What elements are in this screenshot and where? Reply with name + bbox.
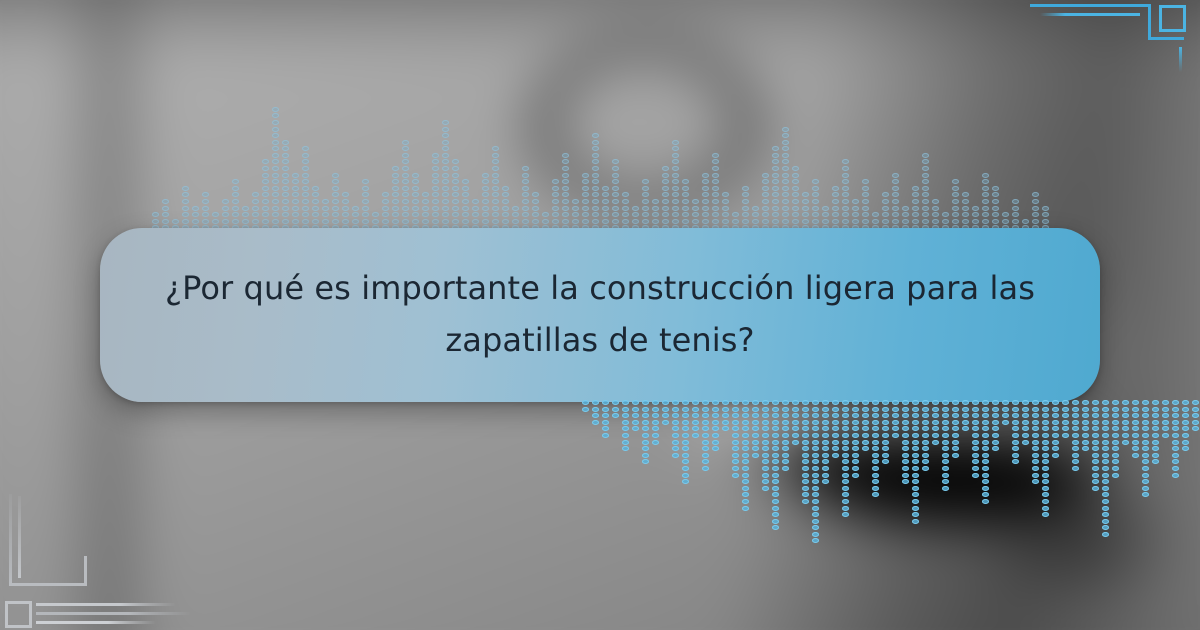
circuit-elbow-horizontal xyxy=(1148,37,1184,40)
waveform-dot xyxy=(1052,440,1059,445)
waveform-dot xyxy=(992,426,999,431)
waveform-dot xyxy=(452,192,459,197)
waveform-dot xyxy=(1132,440,1139,445)
waveform-dot xyxy=(902,466,909,471)
waveform-dot xyxy=(1192,413,1199,418)
waveform-dot xyxy=(912,413,919,418)
waveform-dot xyxy=(922,420,929,425)
waveform-dot xyxy=(682,186,689,191)
waveform-dot xyxy=(522,206,529,211)
waveform-dot xyxy=(392,166,399,171)
waveform-dot xyxy=(332,206,339,211)
waveform-dot xyxy=(672,206,679,211)
waveform-dot xyxy=(972,446,979,451)
waveform-dot xyxy=(752,206,759,211)
waveform-dot xyxy=(932,433,939,438)
waveform-dot xyxy=(412,212,419,217)
waveform-dot xyxy=(1152,453,1159,458)
waveform-dot xyxy=(1052,413,1059,418)
waveform-dot xyxy=(1102,525,1109,530)
waveform-dot xyxy=(392,219,399,224)
waveform-dot xyxy=(942,212,949,217)
waveform-column xyxy=(980,173,990,232)
waveform-dot xyxy=(872,407,879,412)
waveform-dot xyxy=(1072,420,1079,425)
waveform-dot xyxy=(952,440,959,445)
waveform-dot xyxy=(1092,453,1099,458)
waveform-dot xyxy=(1022,400,1029,405)
waveform-dot xyxy=(992,186,999,191)
waveform-dot xyxy=(1142,426,1149,431)
waveform-column xyxy=(280,140,290,232)
waveform-dot xyxy=(682,179,689,184)
waveform-dot xyxy=(592,159,599,164)
waveform-column xyxy=(630,400,640,433)
waveform-dot xyxy=(492,146,499,151)
waveform-dot xyxy=(702,433,709,438)
waveform-dot xyxy=(912,446,919,451)
waveform-dot xyxy=(862,407,869,412)
waveform-dot xyxy=(1102,473,1109,478)
waveform-dot xyxy=(232,212,239,217)
waveform-dot xyxy=(1142,440,1149,445)
waveform-dot xyxy=(672,453,679,458)
waveform-dot xyxy=(432,166,439,171)
waveform-dot xyxy=(1102,407,1109,412)
waveform-dot xyxy=(862,186,869,191)
waveform-dot xyxy=(492,173,499,178)
waveform-column xyxy=(1000,400,1010,426)
waveform-dot xyxy=(812,538,819,543)
waveform-dot xyxy=(782,453,789,458)
waveform-dot xyxy=(592,219,599,224)
waveform-dot xyxy=(712,206,719,211)
waveform-dot xyxy=(812,532,819,537)
waveform-dot xyxy=(822,413,829,418)
waveform-dot xyxy=(802,492,809,497)
waveform-dot xyxy=(1082,400,1089,405)
waveform-dot xyxy=(282,186,289,191)
waveform-dot xyxy=(842,479,849,484)
waveform-dot xyxy=(152,212,159,217)
waveform-dot xyxy=(1092,479,1099,484)
waveform-dot xyxy=(772,219,779,224)
waveform-column xyxy=(560,153,570,232)
waveform-dot xyxy=(1172,400,1179,405)
waveform-dot xyxy=(912,407,919,412)
waveform-dot xyxy=(972,440,979,445)
waveform-dot xyxy=(892,192,899,197)
waveform-dot xyxy=(832,219,839,224)
waveform-dot xyxy=(782,420,789,425)
waveform-dot xyxy=(712,420,719,425)
waveform-dot xyxy=(712,400,719,405)
waveform-dot xyxy=(942,426,949,431)
waveform-dot xyxy=(272,120,279,125)
waveform-dot xyxy=(552,192,559,197)
waveform-dot xyxy=(262,159,269,164)
waveform-dot xyxy=(302,166,309,171)
waveform-dot xyxy=(712,179,719,184)
waveform-column xyxy=(870,400,880,499)
waveform-dot xyxy=(732,459,739,464)
waveform-dot xyxy=(1072,426,1079,431)
waveform-dot xyxy=(622,440,629,445)
waveform-dot xyxy=(712,199,719,204)
waveform-dot xyxy=(842,413,849,418)
waveform-dot xyxy=(1042,440,1049,445)
waveform-dot xyxy=(812,420,819,425)
waveform-dot xyxy=(1012,426,1019,431)
waveform-dot xyxy=(722,420,729,425)
waveform-dot xyxy=(262,166,269,171)
waveform-dot xyxy=(232,199,239,204)
waveform-dot xyxy=(972,212,979,217)
waveform-dot xyxy=(982,199,989,204)
waveform-dot xyxy=(1142,400,1149,405)
waveform-dot xyxy=(952,400,959,405)
waveform-dot xyxy=(882,192,889,197)
waveform-dot xyxy=(302,212,309,217)
waveform-dot xyxy=(912,473,919,478)
waveform-dot xyxy=(572,212,579,217)
waveform-dot xyxy=(842,512,849,517)
waveform-dot xyxy=(812,212,819,217)
waveform-dot xyxy=(812,453,819,458)
waveform-dot xyxy=(842,440,849,445)
waveform-dot xyxy=(382,192,389,197)
waveform-dot xyxy=(922,153,929,158)
waveform-dot xyxy=(712,186,719,191)
waveform-dot xyxy=(852,473,859,478)
waveform-dot xyxy=(222,206,229,211)
waveform-dot xyxy=(982,453,989,458)
waveform-dot xyxy=(812,512,819,517)
waveform-dot xyxy=(1052,407,1059,412)
waveform-dot xyxy=(1012,199,1019,204)
waveform-dot xyxy=(792,179,799,184)
waveform-dot xyxy=(702,420,709,425)
waveform-dot xyxy=(892,186,899,191)
waveform-dot xyxy=(1062,426,1069,431)
waveform-dot xyxy=(882,420,889,425)
waveform-dot xyxy=(362,206,369,211)
waveform-dot xyxy=(542,212,549,217)
waveform-dot xyxy=(562,212,569,217)
waveform-dot xyxy=(332,192,339,197)
circuit-square-icon-bl xyxy=(5,601,32,628)
waveform-dot xyxy=(192,219,199,224)
waveform-dot xyxy=(832,446,839,451)
waveform-dot xyxy=(852,400,859,405)
waveform-dot xyxy=(622,433,629,438)
waveform-dot xyxy=(272,107,279,112)
waveform-dot xyxy=(762,420,769,425)
waveform-dot xyxy=(802,400,809,405)
waveform-column xyxy=(1180,400,1190,453)
waveform-dot xyxy=(982,486,989,491)
waveform-dot xyxy=(952,420,959,425)
waveform-dot xyxy=(922,219,929,224)
waveform-dot xyxy=(942,433,949,438)
waveform-column xyxy=(670,140,680,232)
waveform-dot xyxy=(1022,413,1029,418)
waveform-column xyxy=(1010,400,1020,466)
waveform-dot xyxy=(772,413,779,418)
waveform-dot xyxy=(902,420,909,425)
waveform-dot xyxy=(672,407,679,412)
waveform-dot xyxy=(842,219,849,224)
circuit-line-bottom-3 xyxy=(36,621,156,624)
waveform-dot xyxy=(312,186,319,191)
waveform-dot xyxy=(982,499,989,504)
waveform-column xyxy=(590,133,600,232)
waveform-dot xyxy=(922,433,929,438)
waveform-column xyxy=(720,400,730,433)
waveform-dot xyxy=(942,219,949,224)
waveform-dot xyxy=(682,219,689,224)
waveform-dot xyxy=(612,413,619,418)
waveform-dot xyxy=(962,407,969,412)
waveform-dot xyxy=(1102,426,1109,431)
waveform-dot xyxy=(822,426,829,431)
waveform-dot xyxy=(462,212,469,217)
circuit-line-bottom-2 xyxy=(36,612,191,615)
waveform-dot xyxy=(732,413,739,418)
waveform-dot xyxy=(812,400,819,405)
waveform-dot xyxy=(572,206,579,211)
waveform-dot xyxy=(952,433,959,438)
waveform-dot xyxy=(422,192,429,197)
waveform-dot xyxy=(742,407,749,412)
waveform-column xyxy=(340,192,350,232)
waveform-dot xyxy=(322,206,329,211)
circuit-line-top-2 xyxy=(1040,13,1140,16)
waveform-dot xyxy=(872,492,879,497)
waveform-dot xyxy=(252,199,259,204)
waveform-dot xyxy=(842,407,849,412)
waveform-dot xyxy=(742,413,749,418)
waveform-dot xyxy=(912,492,919,497)
waveform-dot xyxy=(682,420,689,425)
waveform-dot xyxy=(812,426,819,431)
waveform-dot xyxy=(722,199,729,204)
waveform-dot xyxy=(452,166,459,171)
waveform-dot xyxy=(912,466,919,471)
waveform-dot xyxy=(382,212,389,217)
waveform-column xyxy=(460,179,470,232)
waveform-dot xyxy=(1172,453,1179,458)
waveform-dot xyxy=(672,446,679,451)
waveform-dot xyxy=(992,433,999,438)
waveform-dot xyxy=(1012,413,1019,418)
waveform-dot xyxy=(1172,413,1179,418)
waveform-column xyxy=(1040,400,1050,519)
waveform-dot xyxy=(1072,466,1079,471)
waveform-column xyxy=(770,146,780,232)
waveform-dot xyxy=(742,426,749,431)
waveform-column xyxy=(410,173,420,232)
waveform-dot xyxy=(442,186,449,191)
waveform-dot xyxy=(1172,407,1179,412)
waveform-dot xyxy=(702,173,709,178)
waveform-dot xyxy=(412,186,419,191)
waveform-column xyxy=(770,400,780,532)
waveform-dot xyxy=(382,199,389,204)
waveform-dot xyxy=(842,420,849,425)
waveform-dot xyxy=(782,140,789,145)
waveform-dot xyxy=(1152,413,1159,418)
waveform-dot xyxy=(602,413,609,418)
waveform-column xyxy=(860,400,870,453)
waveform-dot xyxy=(482,186,489,191)
waveform-dot xyxy=(762,466,769,471)
waveform-dot xyxy=(912,479,919,484)
waveform-dot xyxy=(902,219,909,224)
waveform-dot xyxy=(652,433,659,438)
waveform-dot xyxy=(862,199,869,204)
waveform-dot xyxy=(682,407,689,412)
waveform-dot xyxy=(162,199,169,204)
waveform-dot xyxy=(1092,433,1099,438)
waveform-dot xyxy=(1122,420,1129,425)
waveform-dot xyxy=(592,133,599,138)
waveform-dot xyxy=(1012,420,1019,425)
waveform-dot xyxy=(1012,206,1019,211)
waveform-dot xyxy=(492,192,499,197)
waveform-dot xyxy=(752,433,759,438)
waveform-dot xyxy=(842,433,849,438)
waveform-dot xyxy=(912,486,919,491)
waveform-dot xyxy=(892,219,899,224)
waveform-dot xyxy=(282,166,289,171)
waveform-dot xyxy=(1152,400,1159,405)
waveform-dot xyxy=(1052,420,1059,425)
waveform-dot xyxy=(342,212,349,217)
waveform-dot xyxy=(882,400,889,405)
waveform-dot xyxy=(772,426,779,431)
waveform-dot xyxy=(552,212,559,217)
waveform-dot xyxy=(892,206,899,211)
waveform-dot xyxy=(592,153,599,158)
audio-waveform-bottom xyxy=(580,400,1200,530)
waveform-dot xyxy=(1112,459,1119,464)
waveform-dot xyxy=(632,407,639,412)
waveform-dot xyxy=(912,420,919,425)
waveform-dot xyxy=(632,426,639,431)
waveform-dot xyxy=(372,212,379,217)
waveform-dot xyxy=(1122,407,1129,412)
waveform-dot xyxy=(782,159,789,164)
waveform-column xyxy=(620,400,630,453)
waveform-dot xyxy=(902,433,909,438)
waveform-dot xyxy=(762,433,769,438)
waveform-dot xyxy=(802,206,809,211)
waveform-dot xyxy=(622,199,629,204)
waveform-dot xyxy=(1092,466,1099,471)
waveform-dot xyxy=(702,459,709,464)
audio-waveform-top xyxy=(150,112,1050,232)
waveform-dot xyxy=(1102,420,1109,425)
waveform-dot xyxy=(662,413,669,418)
waveform-dot xyxy=(292,186,299,191)
waveform-dot xyxy=(692,199,699,204)
waveform-dot xyxy=(292,219,299,224)
waveform-dot xyxy=(812,192,819,197)
waveform-dot xyxy=(482,219,489,224)
waveform-dot xyxy=(822,407,829,412)
waveform-dot xyxy=(422,212,429,217)
waveform-column xyxy=(890,400,900,440)
waveform-column xyxy=(710,153,720,232)
waveform-dot xyxy=(1042,219,1049,224)
waveform-dot xyxy=(762,219,769,224)
waveform-dot xyxy=(842,473,849,478)
waveform-dot xyxy=(1052,453,1059,458)
waveform-dot xyxy=(842,212,849,217)
waveform-dot xyxy=(1042,426,1049,431)
waveform-dot xyxy=(602,199,609,204)
waveform-dot xyxy=(1022,440,1029,445)
waveform-dot xyxy=(492,212,499,217)
waveform-dot xyxy=(342,199,349,204)
waveform-dot xyxy=(1182,413,1189,418)
waveform-dot xyxy=(862,433,869,438)
waveform-dot xyxy=(422,206,429,211)
waveform-dot xyxy=(852,453,859,458)
waveform-dot xyxy=(802,219,809,224)
waveform-dot xyxy=(742,473,749,478)
waveform-dot xyxy=(582,400,589,405)
waveform-dot xyxy=(222,212,229,217)
waveform-dot xyxy=(1122,433,1129,438)
waveform-dot xyxy=(1132,426,1139,431)
waveform-dot xyxy=(582,186,589,191)
waveform-dot xyxy=(792,420,799,425)
waveform-dot xyxy=(1182,446,1189,451)
waveform-dot xyxy=(1142,433,1149,438)
waveform-dot xyxy=(522,199,529,204)
waveform-dot xyxy=(272,179,279,184)
waveform-column xyxy=(330,173,340,232)
waveform-dot xyxy=(792,440,799,445)
waveform-dot xyxy=(462,186,469,191)
waveform-dot xyxy=(882,199,889,204)
waveform-dot xyxy=(822,440,829,445)
waveform-dot xyxy=(1012,459,1019,464)
circuit-elbow-horizontal-bl xyxy=(9,583,87,586)
waveform-dot xyxy=(472,219,479,224)
waveform-dot xyxy=(742,420,749,425)
waveform-dot xyxy=(1042,466,1049,471)
waveform-dot xyxy=(462,219,469,224)
waveform-dot xyxy=(272,206,279,211)
waveform-dot xyxy=(842,159,849,164)
waveform-dot xyxy=(892,179,899,184)
waveform-dot xyxy=(222,199,229,204)
waveform-dot xyxy=(432,179,439,184)
waveform-dot xyxy=(622,407,629,412)
waveform-dot xyxy=(402,212,409,217)
waveform-dot xyxy=(602,212,609,217)
waveform-column xyxy=(660,166,670,232)
waveform-dot xyxy=(1042,506,1049,511)
waveform-dot xyxy=(672,192,679,197)
waveform-dot xyxy=(1182,433,1189,438)
waveform-dot xyxy=(762,400,769,405)
waveform-dot xyxy=(842,492,849,497)
waveform-dot xyxy=(492,153,499,158)
